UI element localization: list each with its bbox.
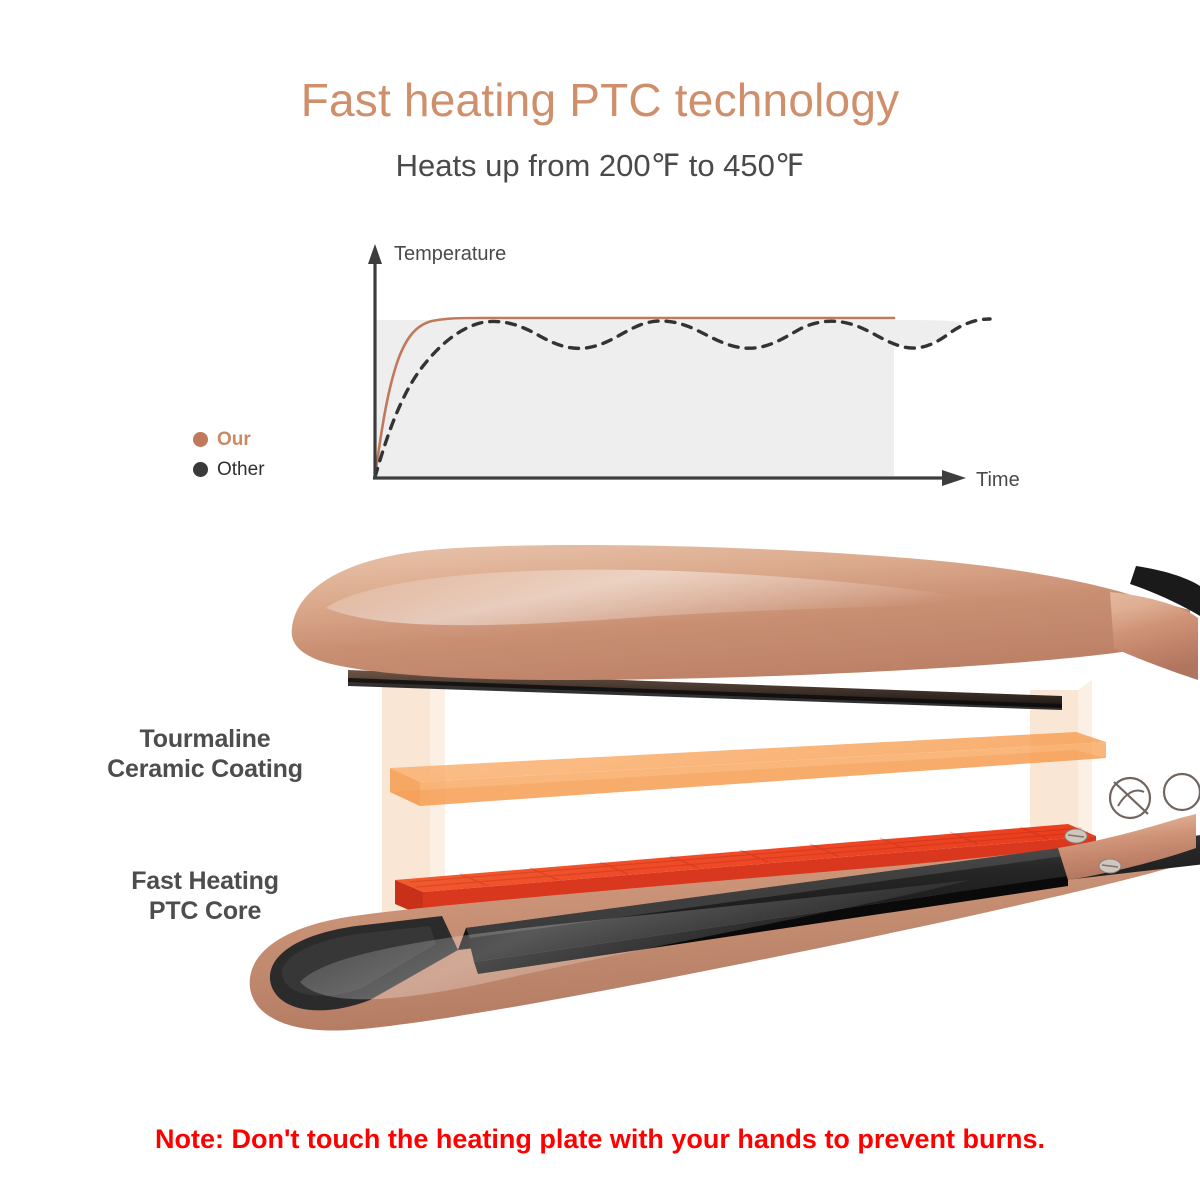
legend-label-other: Other [217, 460, 265, 479]
warning-note: Note: Don't touch the heating plate with… [0, 1122, 1200, 1156]
page-title: Fast heating PTC technology [0, 72, 1200, 128]
upper-arm [292, 545, 1200, 710]
legend-label-our: Our [217, 430, 251, 449]
page-subtitle: Heats up from 200℉ to 450℉ [0, 146, 1200, 186]
y-axis-arrow-icon [368, 244, 382, 264]
x-axis-title: Time [976, 469, 1020, 491]
chart-area-fill-block [375, 320, 894, 476]
product-svg [230, 530, 1200, 1090]
y-axis-title: Temperature [394, 243, 506, 265]
legend-item-our: Our [193, 424, 265, 454]
x-axis-arrow-icon [942, 470, 966, 486]
legend-swatch-other [193, 462, 208, 477]
product-exploded-diagram [230, 530, 1200, 1090]
legend-item-other: Other [193, 454, 265, 484]
chart-svg: Temperature Time [170, 228, 1060, 513]
heating-curve-chart: Temperature Time [170, 228, 1060, 513]
layer-tourmaline-ceramic-coating [390, 732, 1106, 806]
product-caution-marking-icon [1110, 774, 1200, 818]
infographic-canvas: Fast heating PTC technology Heats up fro… [0, 0, 1200, 1200]
legend-swatch-our [193, 432, 208, 447]
chart-legend: Our Other [193, 424, 265, 484]
